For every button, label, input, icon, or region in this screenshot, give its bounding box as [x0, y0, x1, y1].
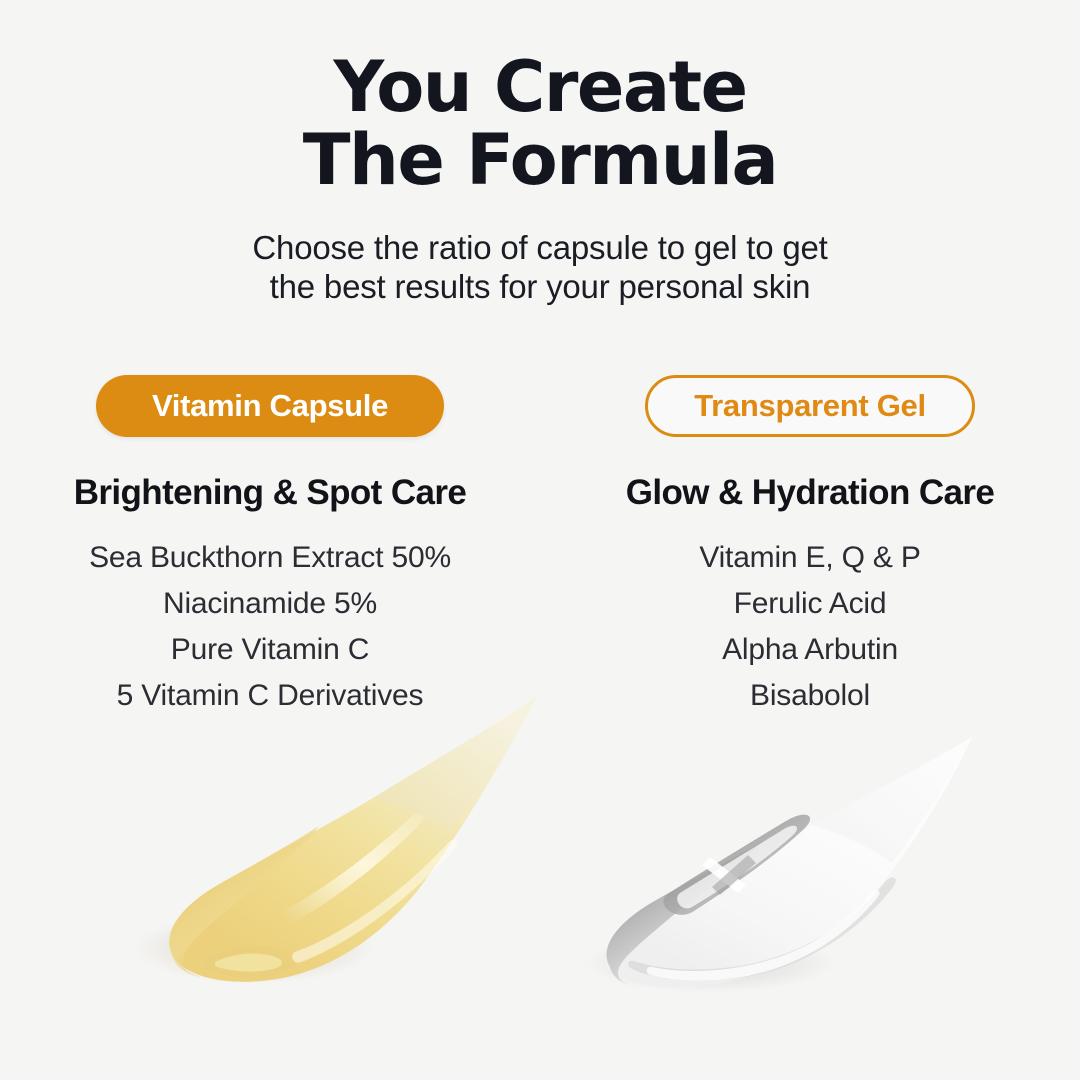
header: You Create The Formula Choose the ratio … [0, 0, 1080, 306]
page-subtitle: Choose the ratio of capsule to gel to ge… [0, 198, 1080, 306]
ingredient-list-gel: Vitamin E, Q & P Ferulic Acid Alpha Arbu… [699, 513, 920, 719]
yellow-capsule-cream-swatch [105, 690, 545, 990]
page-subtitle-line-2: the best results for your personal skin [0, 267, 1080, 306]
heading-glow-hydration-care: Glow & Hydration Care [626, 437, 995, 513]
ingredient-list-capsule: Sea Buckthorn Extract 50% Niacinamide 5%… [89, 513, 451, 719]
list-item: Alpha Arbutin [699, 627, 920, 673]
list-item: 5 Vitamin C Derivatives [89, 673, 451, 719]
clear-gel-swatch [560, 735, 980, 1000]
list-item: Niacinamide 5% [89, 581, 451, 627]
list-item: Bisabolol [699, 673, 920, 719]
badge-transparent-gel[interactable]: Transparent Gel [645, 375, 975, 437]
list-item: Vitamin E, Q & P [699, 535, 920, 581]
list-item: Sea Buckthorn Extract 50% [89, 535, 451, 581]
column-vitamin-capsule: Vitamin Capsule Brightening & Spot Care … [0, 375, 540, 719]
page-title: You Create The Formula [0, 0, 1080, 198]
page-subtitle-line-1: Choose the ratio of capsule to gel to ge… [0, 228, 1080, 267]
list-item: Pure Vitamin C [89, 627, 451, 673]
product-columns: Vitamin Capsule Brightening & Spot Care … [0, 375, 1080, 719]
heading-brightening-spot-care: Brightening & Spot Care [74, 437, 467, 513]
badge-vitamin-capsule[interactable]: Vitamin Capsule [96, 375, 444, 437]
page-title-line-2: The Formula [0, 122, 1080, 198]
list-item: Ferulic Acid [699, 581, 920, 627]
page-title-line-1: You Create [333, 46, 746, 128]
column-transparent-gel: Transparent Gel Glow & Hydration Care Vi… [540, 375, 1080, 719]
promo-page: You Create The Formula Choose the ratio … [0, 0, 1080, 1080]
